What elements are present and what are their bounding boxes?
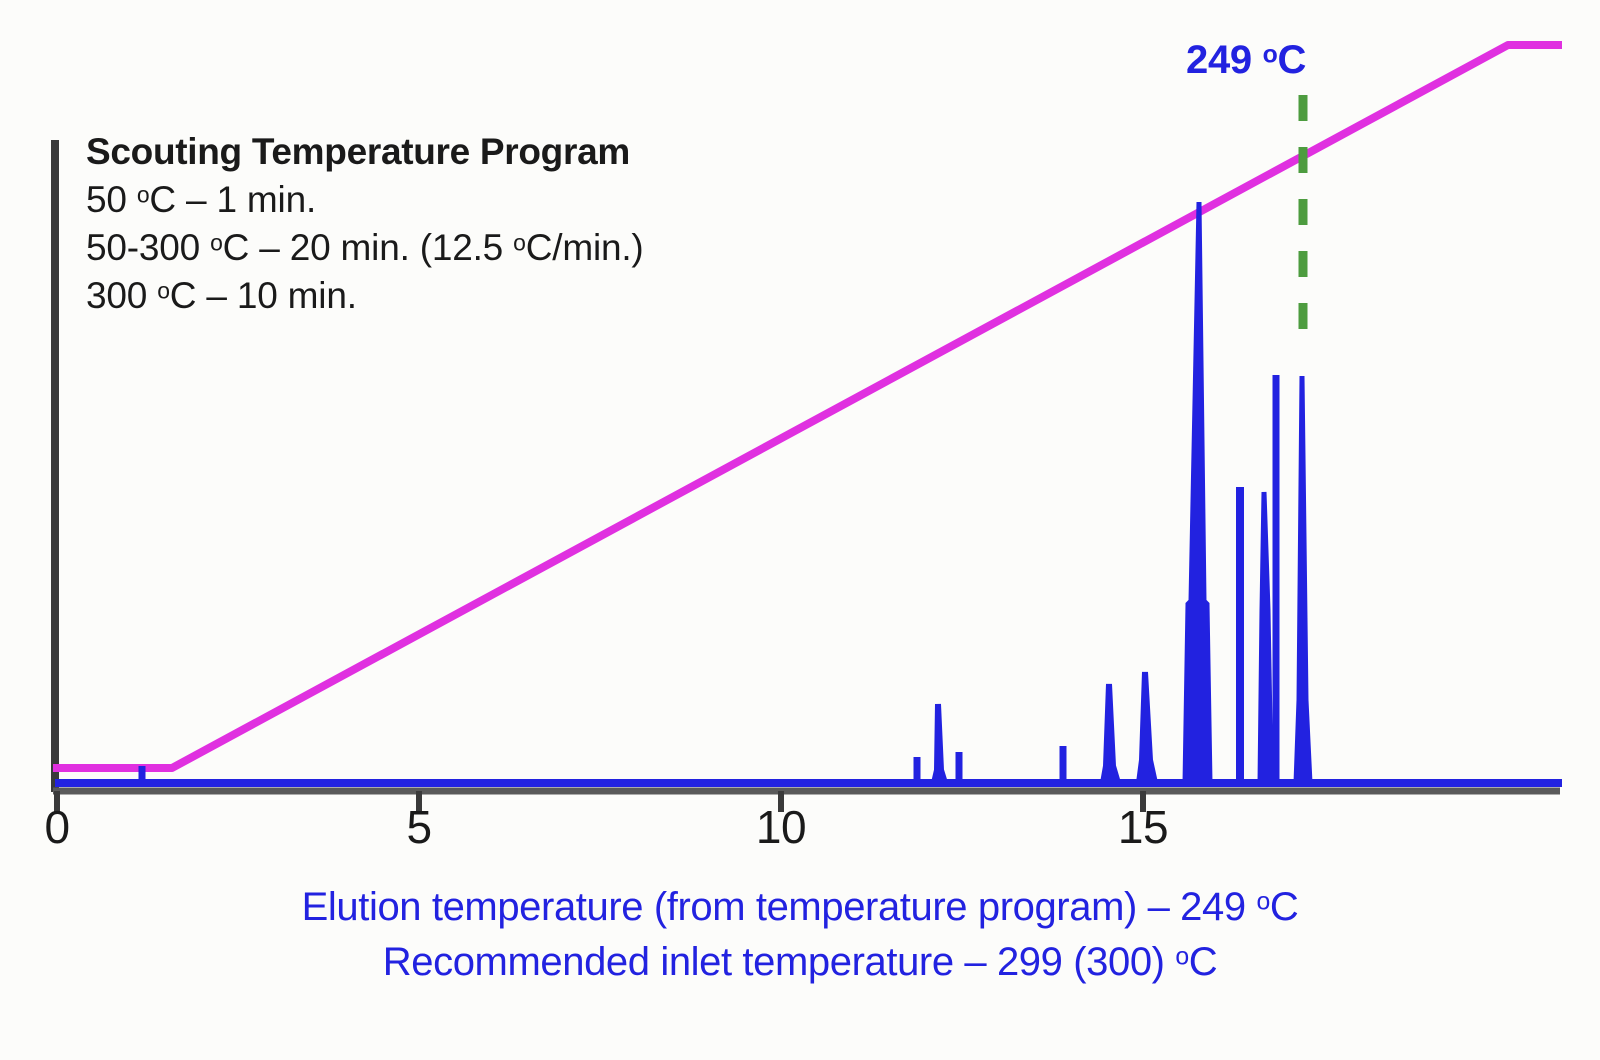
program-line-1: 50 oC – 1 min. (86, 176, 906, 224)
caption-line-elution: Elution temperature (from temperature pr… (0, 880, 1600, 935)
degree-symbol: o (1256, 889, 1269, 916)
program-line-3: 300 oC – 10 min. (86, 272, 906, 320)
degree-symbol: o (210, 230, 223, 256)
degree-symbol: o (137, 181, 150, 207)
caption-line-inlet: Recommended inlet temperature – 299 (300… (0, 935, 1600, 990)
program-line-2: 50-300 oC – 20 min. (12.5 oC/min.) (86, 224, 906, 272)
degree-symbol: o (1175, 943, 1188, 970)
x-tick-label-10: 10 (741, 800, 821, 854)
program-title: Scouting Temperature Program (86, 128, 906, 176)
chart-figure: Scouting Temperature Program 50 oC – 1 m… (0, 0, 1600, 1060)
x-tick-label-15: 15 (1103, 800, 1183, 854)
degree-symbol: o (1263, 42, 1278, 69)
degree-symbol: o (157, 278, 170, 304)
figure-caption: Elution temperature (from temperature pr… (0, 880, 1600, 990)
elution-temperature-callout: 249 oC (1186, 38, 1306, 83)
temperature-program-text-block: Scouting Temperature Program 50 oC – 1 m… (86, 128, 906, 320)
x-tick-label-0: 0 (17, 800, 97, 854)
x-tick-label-5: 5 (379, 800, 459, 854)
degree-symbol: o (513, 230, 526, 256)
